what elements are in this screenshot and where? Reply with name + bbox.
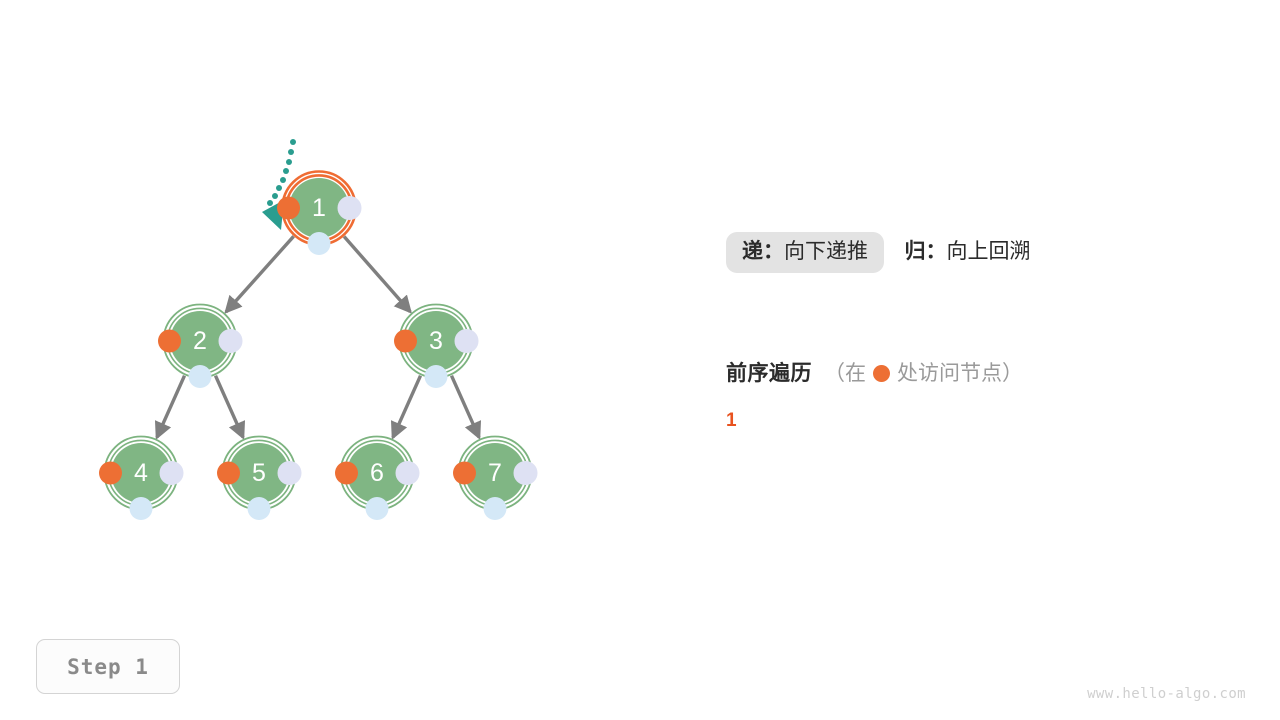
tree-edge-n2-n4: [157, 376, 185, 438]
node-dot-right: [514, 461, 538, 485]
tree-edge-n3-n7: [452, 376, 480, 438]
traversal-title: 前序遍历: [726, 363, 812, 384]
traversal-output-panel: 前序遍历 （在 处访问节点） 1: [726, 363, 1246, 432]
tree-node-5: 5: [217, 437, 302, 521]
pointer-trail-dot: [272, 193, 278, 199]
binary-tree-graphic: 1234567: [0, 0, 1280, 720]
node-label-2: 2: [193, 327, 207, 355]
node-dot-visit: [99, 462, 122, 485]
legend-ascend-value: 向上回溯: [946, 240, 1030, 263]
node-dot-bottom: [130, 497, 153, 520]
pointer-trail-dot: [280, 177, 286, 183]
node-dot-right: [455, 329, 479, 353]
node-dot-right: [338, 196, 362, 220]
tree-node-6: 6: [335, 437, 420, 521]
tree-nodes: 1234567: [99, 172, 538, 521]
site-watermark: www.hello-algo.com: [1087, 686, 1246, 702]
tree-edge-n2-n5: [216, 376, 244, 438]
node-dot-visit: [335, 462, 358, 485]
node-dot-visit: [453, 462, 476, 485]
node-dot-right: [396, 461, 420, 485]
orange-dot-icon: [873, 365, 890, 382]
legend-descend-key: 递：: [742, 240, 784, 263]
tree-node-7: 7: [453, 437, 538, 521]
diagram-canvas: 1234567 递：向下递推 归：向上回溯 前序遍历 （在 处访问节点） 1 S…: [0, 0, 1280, 720]
node-label-5: 5: [252, 459, 266, 487]
node-dot-bottom: [308, 232, 331, 255]
tree-node-3: 3: [394, 305, 479, 389]
step-badge: Step 1: [36, 639, 180, 694]
traversal-note-before: （在: [824, 363, 866, 384]
tree-node-4: 4: [99, 437, 184, 521]
node-dot-right: [160, 461, 184, 485]
tree-edge-n1-n3: [344, 237, 410, 312]
pointer-trail-dot: [286, 159, 292, 165]
node-label-3: 3: [429, 327, 443, 355]
step-badge-label: Step 1: [67, 655, 149, 679]
node-label-4: 4: [134, 459, 148, 487]
node-dot-visit: [217, 462, 240, 485]
node-label-6: 6: [370, 459, 384, 487]
tree-edge-n1-n2: [226, 236, 294, 312]
pointer-trail-dot: [267, 200, 273, 206]
node-label-1: 1: [312, 194, 326, 222]
node-label-7: 7: [488, 459, 502, 487]
node-dot-bottom: [484, 497, 507, 520]
legend-panel: 递：向下递推 归：向上回溯: [726, 232, 1246, 273]
legend-item-descend: 递：向下递推: [726, 232, 884, 273]
node-dot-visit: [277, 197, 300, 220]
tree-edge-n3-n6: [393, 376, 421, 438]
legend-ascend-key: 归：: [904, 240, 946, 263]
pointer-trail-dot: [276, 185, 282, 191]
node-dot-bottom: [366, 497, 389, 520]
legend-descend-value: 向下递推: [784, 240, 868, 263]
pointer-trail-dot: [290, 139, 296, 145]
legend-item-ascend: 归：向上回溯: [888, 232, 1046, 273]
node-dot-bottom: [425, 365, 448, 388]
traversal-heading: 前序遍历 （在 处访问节点）: [726, 363, 1246, 384]
node-dot-bottom: [189, 365, 212, 388]
node-dot-bottom: [248, 497, 271, 520]
node-dot-visit: [158, 330, 181, 353]
tree-node-2: 2: [158, 305, 243, 389]
pointer-trail-dot: [283, 168, 289, 174]
traversal-sequence: 1: [726, 410, 1246, 432]
traversal-note-after: 处访问节点）: [897, 363, 1023, 384]
pointer-trail-dot: [288, 149, 294, 155]
node-dot-right: [278, 461, 302, 485]
node-dot-right: [219, 329, 243, 353]
node-dot-visit: [394, 330, 417, 353]
